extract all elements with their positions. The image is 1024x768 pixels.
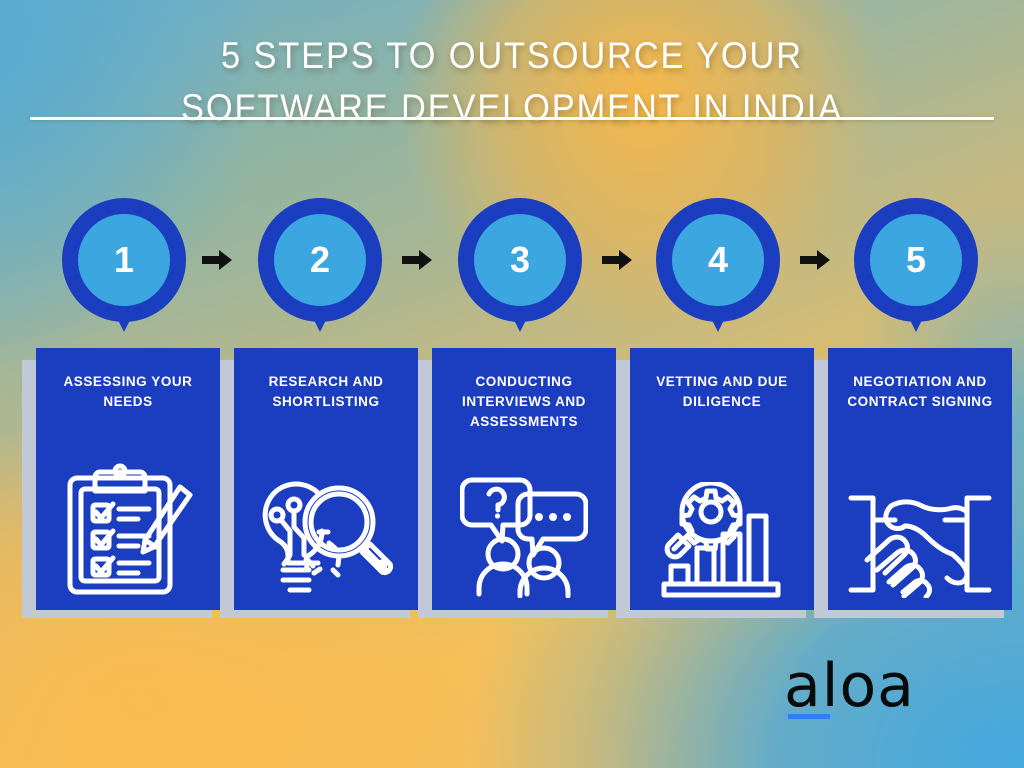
aloa-logo[interactable]: aloa [784,655,934,733]
magnifier-gear-barchart-icon [630,482,814,598]
step-arrow-4 [800,249,830,271]
title-line-1: 5 STEPS TO OUTSOURCE YOUR [36,30,988,82]
step-node-4[interactable]: 4 [656,198,780,338]
card-body-2[interactable]: RESEARCH AND SHORTLISTING [234,348,418,610]
step-circle-1[interactable]: 1 [62,198,186,322]
card-body-1[interactable]: ASSESSING YOUR NEEDS [36,348,220,610]
title-line-2: SOFTWARE DEVELOPMENT IN INDIA [36,82,988,134]
card-title-1: ASSESSING YOUR NEEDS [45,372,211,412]
card-body-5[interactable]: NEGOTIATION AND CONTRACT SIGNING [828,348,1012,610]
step-card-2[interactable]: RESEARCH AND SHORTLISTING [220,340,418,620]
step-card-5[interactable]: NEGOTIATION AND CONTRACT SIGNING [814,340,1012,620]
step-arrow-1 [202,249,232,271]
step-circle-3[interactable]: 3 [458,198,582,322]
step-card-4[interactable]: VETTING AND DUE DILIGENCE [616,340,814,620]
step-circle-2[interactable]: 2 [258,198,382,322]
step-arrow-2 [402,249,432,271]
clipboard-checklist-pencil-icon [36,460,220,598]
card-title-2: RESEARCH AND SHORTLISTING [243,372,409,412]
step-number-3: 3 [510,242,530,278]
steps-card-row: ASSESSING YOUR NEEDS [0,340,1024,630]
steps-circle-row: 1 2 3 [0,198,1024,338]
card-body-3[interactable]: CONDUCTING INTERVIEWS AND ASSESSMENTS [432,348,616,610]
step-circle-inner-4: 4 [672,214,764,306]
card-body-4[interactable]: VETTING AND DUE DILIGENCE [630,348,814,610]
card-title-4: VETTING AND DUE DILIGENCE [639,372,805,412]
speech-bubbles-people-icon [432,474,616,598]
handshake-icon [828,494,1012,598]
aloa-logo-wordmark: aloa [784,655,934,717]
card-title-5: NEGOTIATION AND CONTRACT SIGNING [837,372,1003,412]
step-circle-inner-1: 1 [78,214,170,306]
step-circle-inner-2: 2 [274,214,366,306]
step-node-5[interactable]: 5 [854,198,978,338]
step-node-3[interactable]: 3 [458,198,582,338]
lightbulb-gear-magnifier-icon [234,460,418,598]
step-circle-inner-3: 3 [474,214,566,306]
step-arrow-3 [602,249,632,271]
step-card-1[interactable]: ASSESSING YOUR NEEDS [22,340,220,620]
step-number-1: 1 [114,242,134,278]
step-number-5: 5 [906,242,926,278]
step-number-4: 4 [708,242,728,278]
step-circle-5[interactable]: 5 [854,198,978,322]
card-title-3: CONDUCTING INTERVIEWS AND ASSESSMENTS [441,372,607,432]
infographic-canvas: 5 STEPS TO OUTSOURCE YOUR SOFTWARE DEVEL… [0,0,1024,768]
step-card-3[interactable]: CONDUCTING INTERVIEWS AND ASSESSMENTS [418,340,616,620]
step-circle-4[interactable]: 4 [656,198,780,322]
step-node-2[interactable]: 2 [258,198,382,338]
step-circle-inner-5: 5 [870,214,962,306]
title-divider-rule [30,117,994,120]
aloa-logo-underline [788,714,830,719]
step-number-2: 2 [310,242,330,278]
step-node-1[interactable]: 1 [62,198,186,338]
